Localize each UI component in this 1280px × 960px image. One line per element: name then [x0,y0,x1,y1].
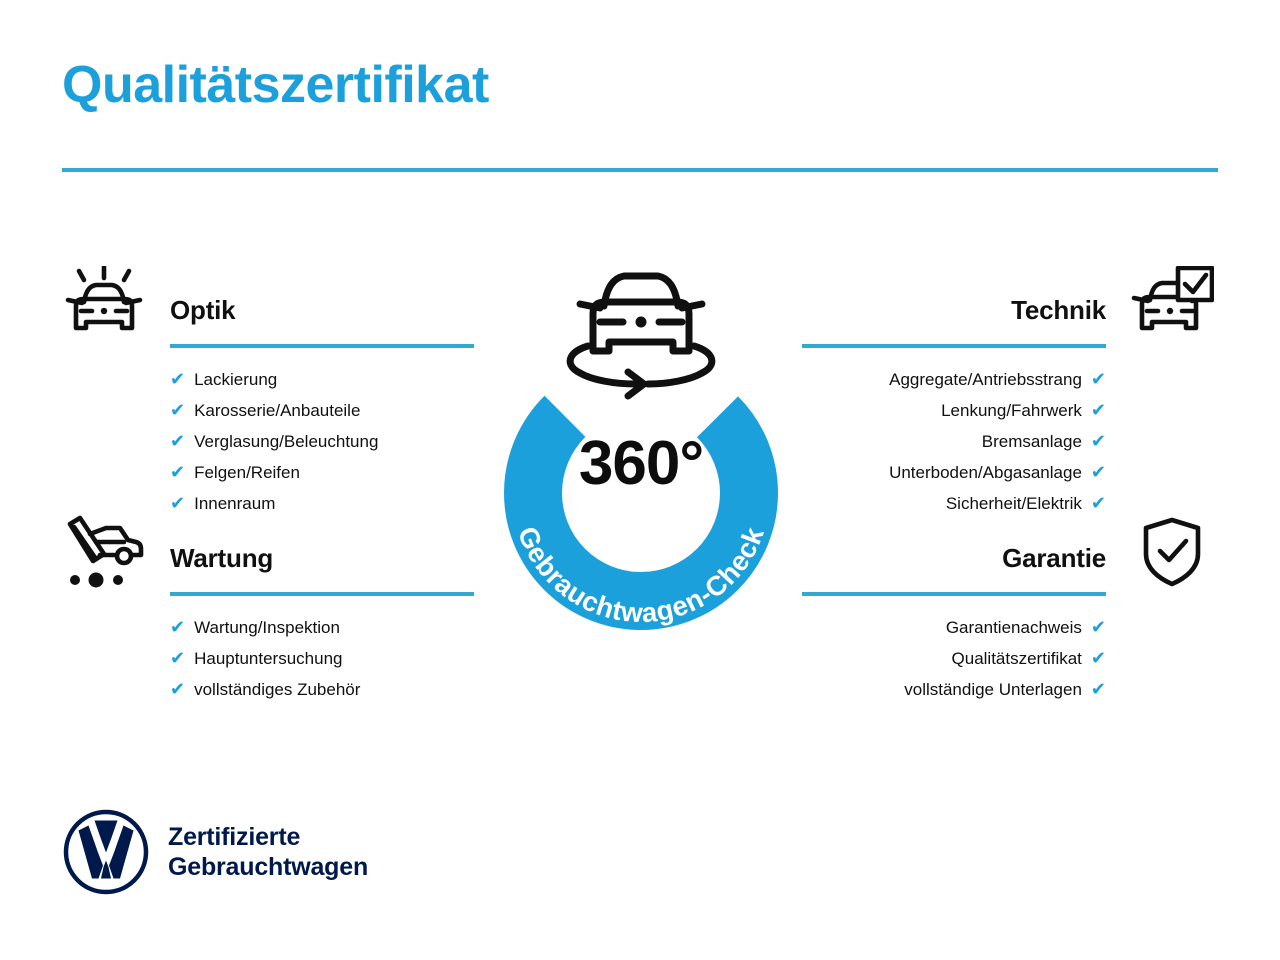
list-item: Qualitätszertifikat ✔ [802,643,1106,674]
list-item: ✔ Karosserie/Anbauteile [170,395,474,426]
car-front-shine-icon [62,266,146,342]
footer-line-2: Gebrauchtwagen [168,852,368,883]
section-garantie-header: Garantie [802,510,1214,594]
check-icon: ✔ [170,643,185,673]
section-wartung: Wartung ✔ Wartung/Inspektion ✔ Hauptunte… [62,510,474,705]
section-wartung-title: Wartung [170,543,273,574]
section-garantie-list: Garantienachweis ✔ Qualitätszertifikat ✔… [802,612,1214,705]
section-optik-list: ✔ Lackierung ✔ Karosserie/Anbauteile ✔ V… [62,364,474,519]
list-item: ✔ Verglasung/Beleuchtung [170,426,474,457]
car-front-checkbox-icon [1130,266,1214,342]
footer-line-1: Zertifizierte [168,822,368,853]
list-item-label: Garantienachweis [946,613,1082,643]
vw-logo [62,808,150,896]
car-rotate-360-icon [570,276,712,396]
check-icon: ✔ [1091,612,1106,642]
list-item-label: Lackierung [194,365,277,395]
list-item: vollständige Unterlagen ✔ [802,674,1106,705]
check-icon: ✔ [170,457,185,487]
list-item-label: Karosserie/Anbauteile [194,396,360,426]
list-item-label: Verglasung/Beleuchtung [194,427,378,457]
certificate-page: Qualitätszertifikat [0,0,1280,960]
list-item: ✔ vollständiges Zubehör [170,674,474,705]
list-item: Bremsanlage ✔ [802,426,1106,457]
list-item: Aggregate/Antriebsstrang ✔ [802,364,1106,395]
list-item-label: vollständige Unterlagen [904,675,1082,705]
section-technik: Technik Aggregate/Antriebsstrang ✔ Lenku… [802,262,1214,519]
list-item: ✔ Wartung/Inspektion [170,612,474,643]
check-icon: ✔ [1091,457,1106,487]
section-technik-title: Technik [1011,295,1106,326]
list-item-label: Qualitätszertifikat [952,644,1082,674]
section-technik-list: Aggregate/Antriebsstrang ✔ Lenkung/Fahrw… [802,364,1214,519]
shield-check-icon [1130,514,1214,590]
list-item-label: vollständiges Zubehör [194,675,360,705]
list-item: ✔ Lackierung [170,364,474,395]
footer-text: Zertifizierte Gebrauchtwagen [168,822,368,883]
check-icon: ✔ [1091,643,1106,673]
check-icon: ✔ [1091,395,1106,425]
section-technik-header: Technik [802,262,1214,346]
list-item-label: Bremsanlage [982,427,1082,457]
check-icon: ✔ [170,395,185,425]
list-item: ✔ Felgen/Reifen [170,457,474,488]
section-optik: Optik ✔ Lackierung ✔ Karosserie/Anbautei… [62,262,474,519]
section-wartung-header: Wartung [62,510,474,594]
list-item: Garantienachweis ✔ [802,612,1106,643]
list-item: ✔ Hauptuntersuchung [170,643,474,674]
check-icon: ✔ [170,612,185,642]
badge-360-gebrauchtwagen-check: Gebrauchtwagen-Check [476,250,806,640]
list-item-label: Hauptuntersuchung [194,644,342,674]
list-item-label: Lenkung/Fahrwerk [941,396,1082,426]
check-icon: ✔ [1091,674,1106,704]
section-optik-title: Optik [170,295,235,326]
list-item-label: Wartung/Inspektion [194,613,340,643]
list-item: Unterboden/Abgasanlage ✔ [802,457,1106,488]
check-icon: ✔ [1091,364,1106,394]
car-service-pen-icon [62,514,146,590]
check-icon: ✔ [170,364,185,394]
section-garantie: Garantie Garantienachweis ✔ Qualitätszer… [802,510,1214,705]
list-item-label: Felgen/Reifen [194,458,300,488]
check-icon: ✔ [170,674,185,704]
section-wartung-list: ✔ Wartung/Inspektion ✔ Hauptuntersuchung… [62,612,474,705]
list-item: Lenkung/Fahrwerk ✔ [802,395,1106,426]
header-divider [62,168,1218,172]
check-icon: ✔ [170,426,185,456]
section-optik-header: Optik [62,262,474,346]
page-title: Qualitätszertifikat [62,58,489,113]
footer-brand: Zertifizierte Gebrauchtwagen [62,808,368,896]
list-item-label: Aggregate/Antriebsstrang [889,365,1082,395]
check-icon: ✔ [1091,426,1106,456]
list-item-label: Unterboden/Abgasanlage [889,458,1082,488]
section-garantie-title: Garantie [1002,543,1106,574]
badge-number: 360° [476,428,806,499]
